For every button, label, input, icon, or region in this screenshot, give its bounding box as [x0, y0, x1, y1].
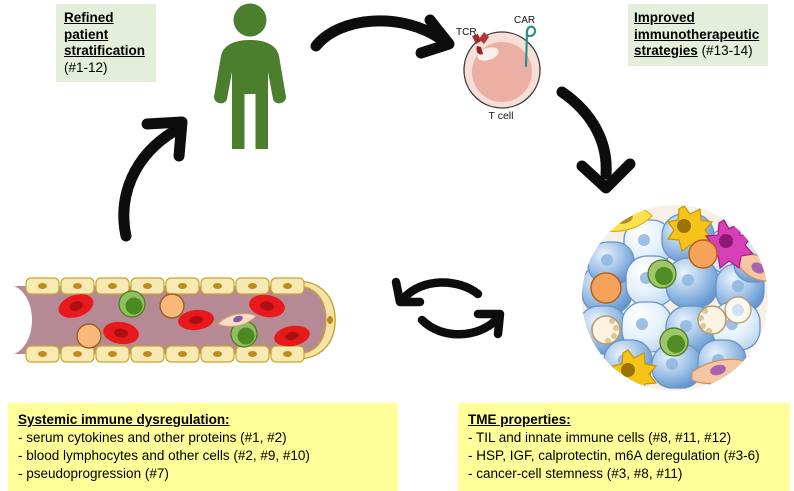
tumour-infiltrating-lymphocyte [648, 260, 676, 288]
callout-systemic-immune-dysregulation: Systemic immune dysregulation: - serum c… [8, 403, 398, 491]
callout-tme-properties: TME properties: - TIL and innate immune … [458, 403, 790, 491]
arrow-vessel-to-patient-icon [100, 108, 204, 244]
callout-improved-title-line1: Improved [634, 10, 764, 27]
callout-systemic-title: Systemic immune dysregulation: [18, 411, 392, 429]
callout-tme-title: TME properties: [468, 411, 784, 429]
patient-pictogram-icon [207, 2, 293, 152]
callout-systemic-item-0: - serum cytokines and other proteins (#1… [18, 429, 392, 447]
callout-refined-detail: (#1-12) [64, 60, 150, 77]
arrow-patient-to-tcell-icon [306, 6, 474, 74]
callout-improved-title-line2: immunotherapeutic [634, 27, 764, 44]
callout-improved-strategies: Improved immunotherapeutic strategies (#… [628, 4, 768, 66]
t-cell-label: T cell [466, 110, 536, 122]
callout-improved-detail: (#13-14) [702, 43, 753, 58]
callout-systemic-item-2: - pseudoprogression (#7) [18, 465, 392, 483]
callout-tme-item-2: - cancer-cell stemness (#3, #8, #11) [468, 465, 784, 483]
callout-tme-item-0: - TIL and innate immune cells (#8, #11, … [468, 429, 784, 447]
callout-tme-item-1: - HSP, IGF, calprotectin, m6A deregulati… [468, 447, 784, 465]
blood-vessel-illustration [4, 268, 344, 372]
callout-systemic-item-1: - blood lymphocytes and other cells (#2,… [18, 447, 392, 465]
callout-refined-title-line1: Refined patient [64, 10, 150, 43]
callout-improved-title-line3: strategies [634, 43, 698, 58]
monocyte [160, 294, 184, 318]
tumour-microenvironment-illustration [566, 202, 784, 394]
callout-refined-title-line2: stratification [64, 43, 150, 60]
nk-cell [592, 316, 620, 344]
callout-refined-stratification: Refined patient stratification (#1-12) [56, 4, 156, 82]
arrow-tcell-to-tumour-icon [548, 82, 652, 204]
arrow-exchange-cycle-icon [386, 272, 514, 346]
car-label: CAR [514, 15, 535, 26]
lymphocyte [119, 291, 145, 317]
macrophage [689, 240, 717, 268]
